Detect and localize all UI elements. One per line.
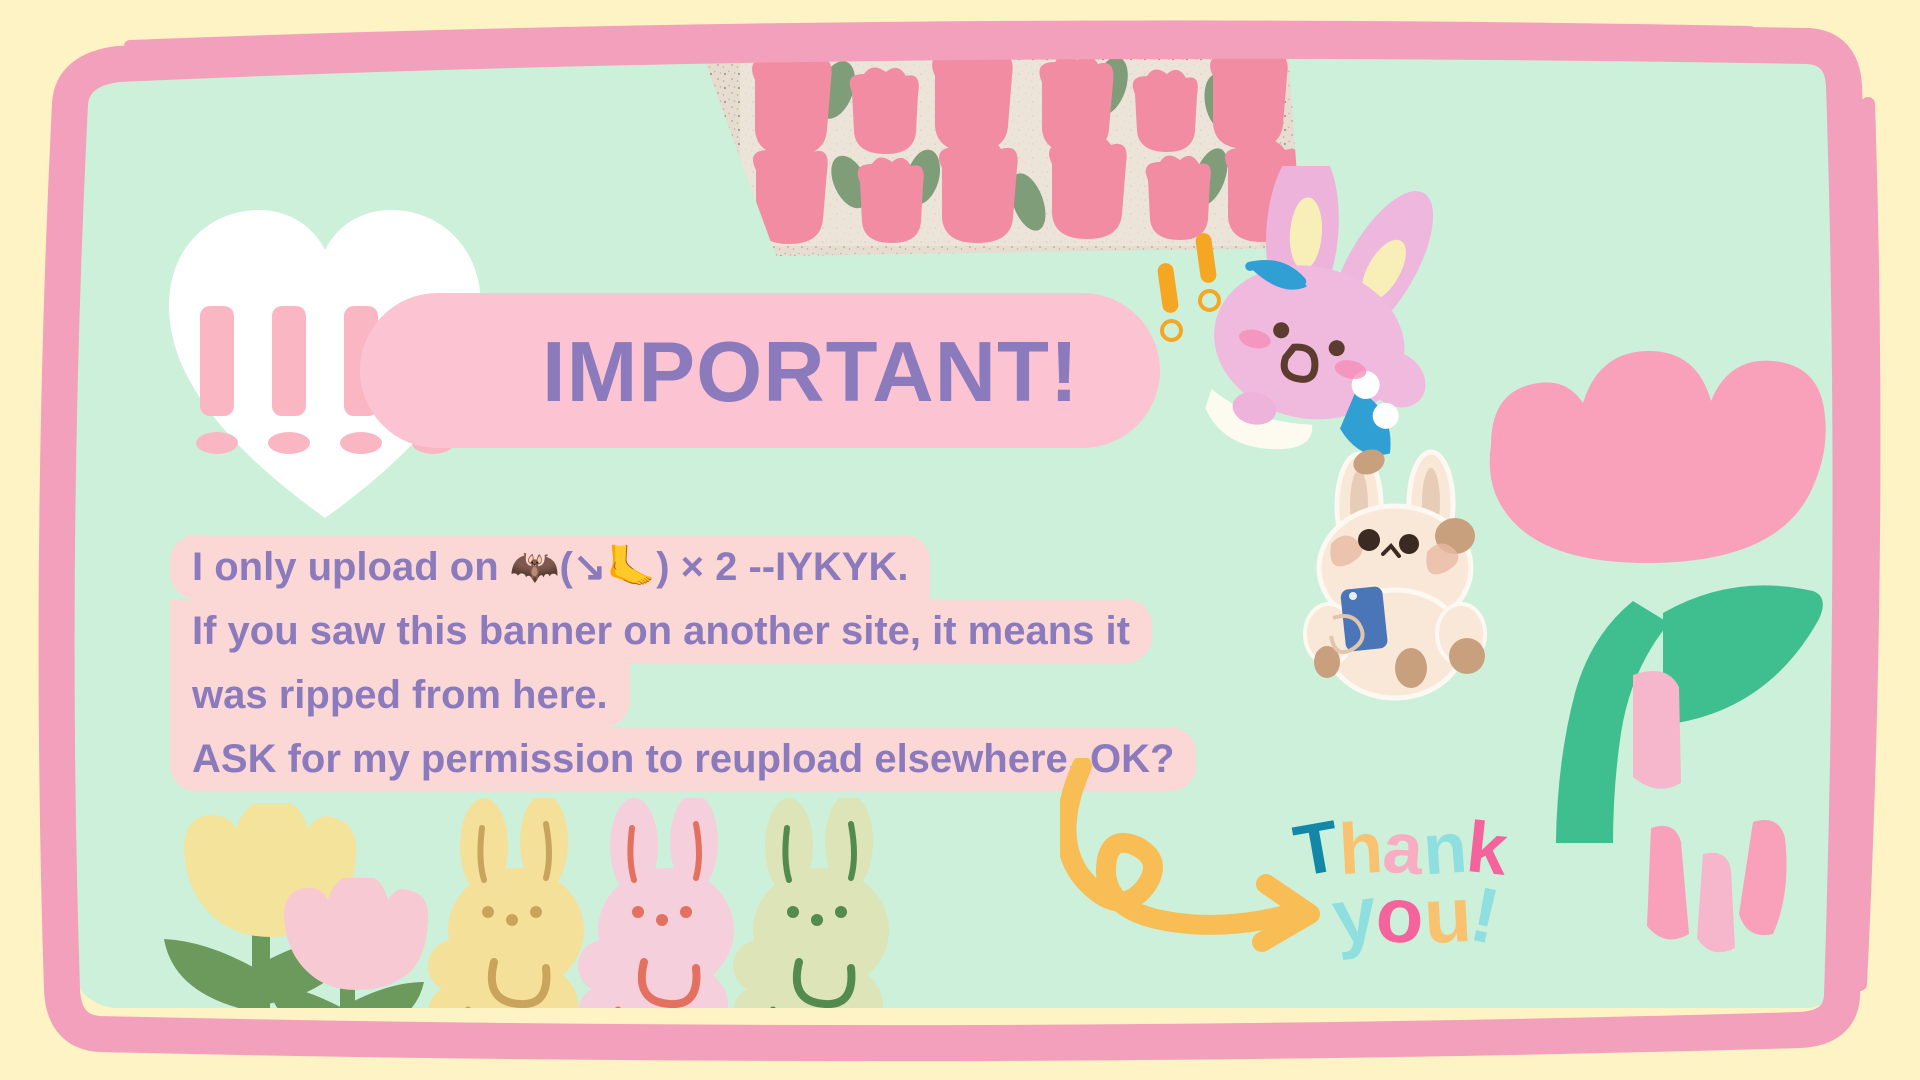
- small-pink-tulip: [266, 878, 446, 1008]
- thank-you-line-2: you!: [1333, 870, 1498, 961]
- notice-line-2: If you saw this banner on another site, …: [170, 599, 1152, 663]
- banner-card: IMPORTANT! I only upload on 🦇(↘🦶) × 2 --…: [70, 48, 1852, 1008]
- gummy-bunny-green: [725, 798, 915, 1008]
- exclamation-1: [200, 306, 234, 454]
- exclamation-2: [272, 306, 306, 454]
- banner-canvas: IMPORTANT! I only upload on 🦇(↘🦶) × 2 --…: [0, 0, 1920, 1080]
- notice-line-1: I only upload on 🦇(↘🦶) × 2 --IYKYK.: [170, 535, 930, 599]
- big-pink-tulip: [1465, 223, 1852, 848]
- notice-line-4: ASK for my permission to reupload elsewh…: [170, 727, 1196, 791]
- notice-text-block: I only upload on 🦇(↘🦶) × 2 --IYKYK. If y…: [170, 535, 1290, 791]
- thank-you-lettering: Thank you!: [1295, 808, 1585, 978]
- page-title: IMPORTANT!: [542, 318, 1079, 428]
- letter-o: o: [1374, 869, 1426, 962]
- notice-line-3: was ripped from here.: [170, 663, 630, 727]
- falling-petals: [1595, 818, 1825, 1003]
- purple-flying-bunny: [1165, 166, 1475, 471]
